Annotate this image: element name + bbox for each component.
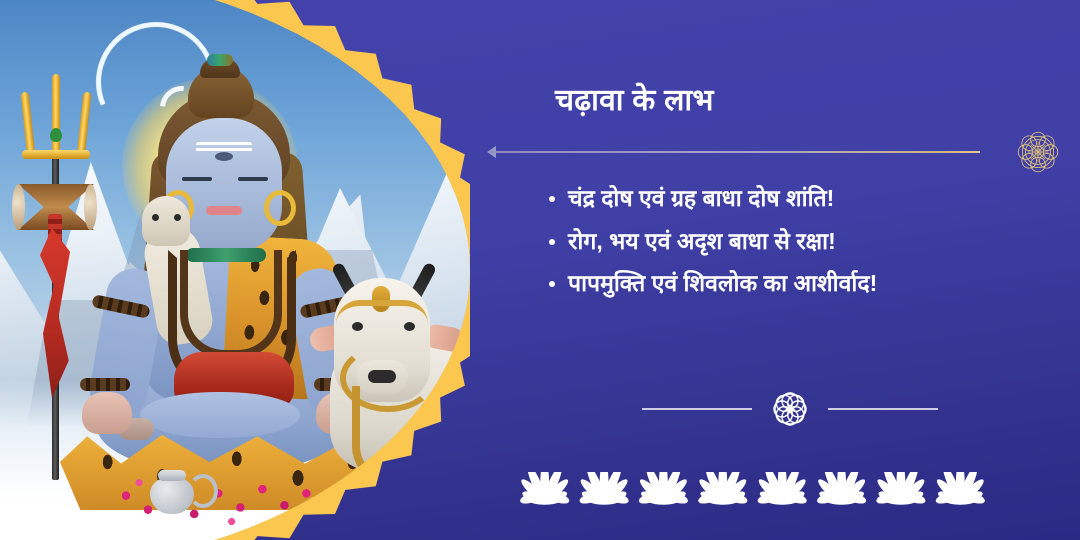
shiva-hand-left bbox=[82, 392, 132, 434]
cobra-eye-left bbox=[152, 214, 159, 221]
benefits-list: चंद्र दोष एवं ग्रह बाधा दोष शांति! रोग, … bbox=[540, 182, 1060, 310]
shiva-earring-right bbox=[264, 190, 296, 226]
trishul-crossbar bbox=[22, 150, 90, 159]
nandi-head-chain bbox=[336, 300, 428, 324]
nandi-eye-left bbox=[352, 322, 363, 331]
shiva-artwork-panel bbox=[0, 0, 470, 540]
kalash-pot-icon bbox=[150, 478, 194, 514]
nandi-eye-right bbox=[404, 322, 415, 331]
rudraksha-mala-inner bbox=[180, 250, 282, 358]
shiva-eye-right bbox=[238, 177, 268, 181]
cobra-eye-right bbox=[174, 214, 181, 221]
lotus-icon bbox=[697, 472, 749, 506]
shiva-lips bbox=[206, 206, 242, 215]
list-item: पापमुक्ति एवं शिवलोक का आशीर्वाद! bbox=[540, 267, 1060, 300]
wristlet-left bbox=[80, 378, 130, 391]
cobra-hood-icon bbox=[142, 196, 190, 246]
damru-cap-left bbox=[12, 184, 25, 230]
artwork-clip bbox=[0, 0, 470, 540]
lotus-icon bbox=[519, 472, 571, 506]
lotus-icon bbox=[934, 472, 986, 506]
page-title: चढ़ावा के लाभ bbox=[555, 78, 714, 119]
list-item: रोग, भय एवं अदृश बाधा से रक्षा! bbox=[540, 225, 1060, 258]
list-item: चंद्र दोष एवं ग्रह बाधा दोष शांति! bbox=[540, 182, 1060, 215]
trishul-prong-center bbox=[52, 74, 60, 158]
damru-cap-right bbox=[84, 184, 97, 230]
lotus-icon bbox=[756, 472, 808, 506]
lotus-icon bbox=[816, 472, 868, 506]
ornamental-divider bbox=[640, 392, 940, 426]
kalash-handle bbox=[188, 474, 218, 508]
rosette-icon bbox=[774, 393, 806, 425]
title-divider-rule bbox=[490, 151, 980, 153]
content-panel: चढ़ावा के लाभ चंद्र दोष एवं ग् bbox=[470, 0, 1080, 540]
lotus-border-band bbox=[515, 472, 990, 508]
nandi-bead-necklace bbox=[352, 386, 446, 486]
mandala-icon bbox=[1012, 126, 1064, 178]
lotus-icon bbox=[578, 472, 630, 506]
shiva-leg-fold bbox=[140, 392, 300, 438]
shiva-hair-bun-gem bbox=[207, 54, 233, 66]
promo-banner: चढ़ावा के लाभ चंद्र दोष एवं ग् bbox=[0, 0, 1080, 540]
lotus-icon bbox=[637, 472, 689, 506]
lotus-icon bbox=[875, 472, 927, 506]
nandi-bell-icon bbox=[380, 466, 404, 494]
shiva-eye-left bbox=[182, 177, 212, 181]
kalash-lid bbox=[158, 470, 186, 481]
trishul-gem bbox=[50, 128, 62, 142]
third-eye bbox=[215, 152, 233, 161]
